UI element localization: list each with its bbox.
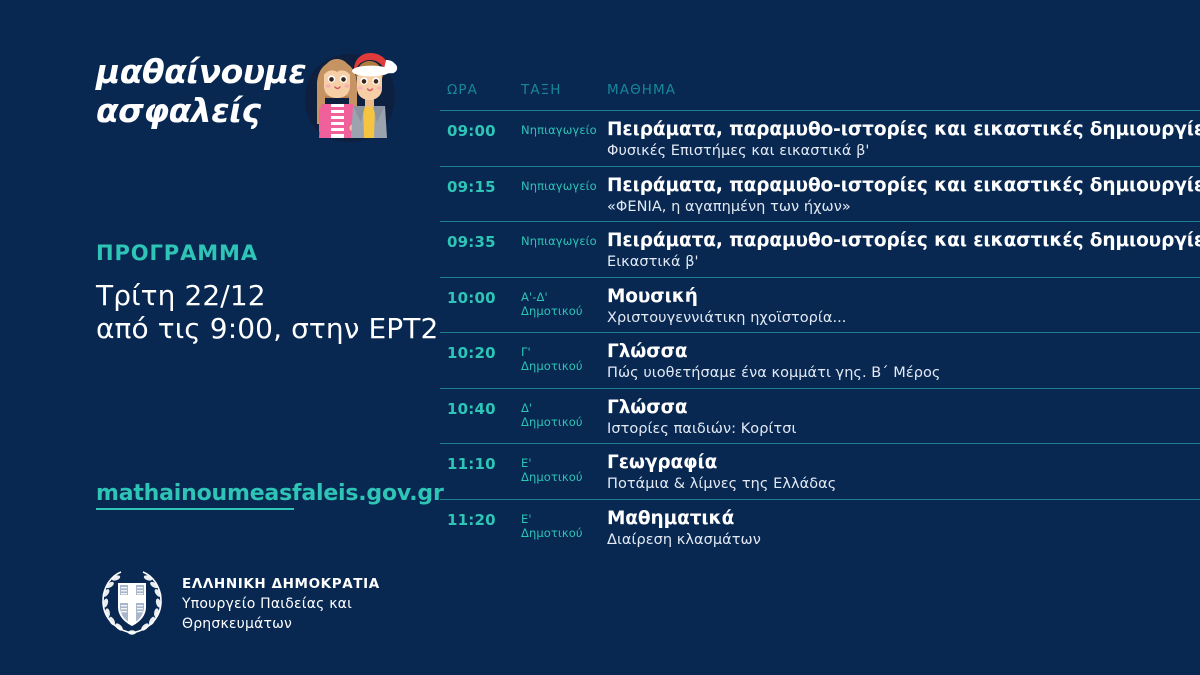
programme-date-line-2: από τις 9:00, στην ΕΡΤ2	[96, 312, 426, 345]
site-url-wrapper: mathainoumeasfaleis.gov.gr	[96, 481, 444, 506]
row-class: Νηπιαγωγείο	[521, 123, 597, 137]
row-class-line-1: Δ'	[521, 401, 583, 415]
table-row[interactable]: 11:20 Ε' Δημοτικού Μαθηματικά Διαίρεση κ…	[440, 499, 1200, 555]
row-class-line-1: Γ'	[521, 345, 583, 359]
row-subject-title: Πειράματα, παραμυθο-ιστορίες και εικαστι…	[607, 230, 1200, 252]
row-class-line-1: Νηπιαγωγείο	[521, 179, 597, 193]
table-row[interactable]: 10:40 Δ' Δημοτικού Γλώσσα Ιστορίες παιδι…	[440, 388, 1200, 444]
row-class-line-1: Α'-Δ'	[521, 290, 583, 304]
row-subject-title: Μαθηματικά	[607, 508, 1200, 530]
row-class: Νηπιαγωγείο	[521, 234, 597, 248]
column-header-time: ΩΡΑ	[447, 82, 478, 98]
two-children-illustration	[291, 46, 406, 154]
table-row[interactable]: 09:35 Νηπιαγωγείο Πειράματα, παραμυθο-ισ…	[440, 221, 1200, 277]
row-time: 10:40	[447, 400, 496, 418]
row-time: 09:00	[447, 122, 496, 140]
row-class: Ε' Δημοτικού	[521, 456, 583, 484]
table-row[interactable]: 09:15 Νηπιαγωγείο Πειράματα, παραμυθο-ισ…	[440, 166, 1200, 222]
row-class-line-2: Δημοτικού	[521, 304, 583, 318]
row-class: Δ' Δημοτικού	[521, 401, 583, 429]
row-subject: Πειράματα, παραμυθο-ιστορίες και εικαστι…	[607, 119, 1200, 161]
row-time: 10:20	[447, 344, 496, 362]
row-class-line-2: Δημοτικού	[521, 415, 583, 429]
table-row[interactable]: 10:20 Γ' Δημοτικού Γλώσσα Πώς υιοθετήσαμ…	[440, 332, 1200, 388]
programme-date-line-1: Τρίτη 22/12	[96, 279, 426, 312]
brand-line-2: ασφαλείς	[96, 91, 321, 130]
greek-coat-of-arms-icon	[96, 567, 168, 639]
row-class: Ε' Δημοτικού	[521, 512, 583, 540]
programme-date: Τρίτη 22/12 από τις 9:00, στην ΕΡΤ2	[96, 279, 426, 345]
row-class-line-2: Δημοτικού	[521, 359, 583, 373]
table-row[interactable]: 09:00 Νηπιαγωγείο Πειράματα, παραμυθο-ισ…	[440, 110, 1200, 166]
row-class-line-1: Νηπιαγωγείο	[521, 123, 597, 137]
table-row[interactable]: 11:10 Ε' Δημοτικού Γεωγραφία Ποτάμια & λ…	[440, 443, 1200, 499]
row-subject-desc: Ποτάμια & λίμνες της Ελλάδας	[607, 475, 1200, 494]
row-class: Γ' Δημοτικού	[521, 345, 583, 373]
row-subject: Γλώσσα Πώς υιοθετήσαμε ένα κομμάτι γης. …	[607, 341, 1200, 383]
brand-line-1: μαθαίνουμε	[96, 52, 321, 91]
row-class-line-1: Ε'	[521, 456, 583, 470]
row-time: 11:20	[447, 511, 496, 529]
government-logo-text: ΕΛΛΗΝΙΚΗ ΔΗΜΟΚΡΑΤΙΑ Υπουργείο Παιδείας κ…	[182, 573, 430, 634]
row-class-line-1: Νηπιαγωγείο	[521, 234, 597, 248]
column-header-class: ΤΑΞΗ	[521, 82, 562, 98]
row-subject-title: Μουσική	[607, 286, 1200, 308]
row-class-line-2: Δημοτικού	[521, 470, 583, 484]
row-subject: Μαθηματικά Διαίρεση κλασμάτων	[607, 508, 1200, 550]
programme-block: ΠΡΟΓΡΑΜΜΑ Τρίτη 22/12 από τις 9:00, στην…	[96, 240, 426, 345]
row-subject-desc: Πώς υιοθετήσαμε ένα κομμάτι γης. Β΄ Μέρο…	[607, 364, 1200, 383]
row-time: 11:10	[447, 455, 496, 473]
government-logo: ΕΛΛΗΝΙΚΗ ΔΗΜΟΚΡΑΤΙΑ Υπουργείο Παιδείας κ…	[96, 567, 430, 639]
government-title: ΕΛΛΗΝΙΚΗ ΔΗΜΟΚΡΑΤΙΑ	[182, 575, 430, 593]
government-subtitle: Υπουργείο Παιδείας και Θρησκευμάτων	[182, 594, 430, 634]
table-row[interactable]: 10:00 Α'-Δ' Δημοτικού Μουσική Χριστουγεν…	[440, 277, 1200, 333]
row-subject-title: Πειράματα, παραμυθο-ιστορίες και εικαστι…	[607, 175, 1200, 197]
row-subject: Πειράματα, παραμυθο-ιστορίες και εικαστι…	[607, 175, 1200, 217]
brand-wordmark: μαθαίνουμε ασφαλείς	[96, 52, 321, 130]
schedule-column-headers: ΩΡΑ ΤΑΞΗ ΜΑΘΗΜΑ	[440, 82, 1200, 110]
row-subject: Γλώσσα Ιστορίες παιδιών: Κορίτσι	[607, 397, 1200, 439]
brand-logo: μαθαίνουμε ασφαλείς	[96, 52, 406, 152]
row-subject-desc: Φυσικές Επιστήμες και εικαστικά β'	[607, 142, 1200, 161]
column-header-subject: ΜΑΘΗΜΑ	[607, 82, 676, 98]
programme-label: ΠΡΟΓΡΑΜΜΑ	[96, 240, 426, 266]
row-class-line-1: Ε'	[521, 512, 583, 526]
row-class: Νηπιαγωγείο	[521, 179, 597, 193]
left-panel: μαθαίνουμε ασφαλείς	[0, 0, 430, 675]
row-time: 09:35	[447, 233, 496, 251]
row-subject-desc: Εικαστικά β'	[607, 253, 1200, 272]
row-subject-desc: Χριστουγεννιάτικη ηχοϊστορία...	[607, 309, 1200, 328]
poster-root: μαθαίνουμε ασφαλείς	[0, 0, 1200, 675]
site-url-link[interactable]: mathainoumeasfaleis.gov.gr	[96, 481, 444, 506]
row-subject: Μουσική Χριστουγεννιάτικη ηχοϊστορία...	[607, 286, 1200, 328]
row-class: Α'-Δ' Δημοτικού	[521, 290, 583, 318]
row-subject-title: Γλώσσα	[607, 341, 1200, 363]
row-subject-title: Γλώσσα	[607, 397, 1200, 419]
row-time: 09:15	[447, 178, 496, 196]
row-class-line-2: Δημοτικού	[521, 526, 583, 540]
row-subject-desc: Διαίρεση κλασμάτων	[607, 531, 1200, 550]
row-subject: Πειράματα, παραμυθο-ιστορίες και εικαστι…	[607, 230, 1200, 272]
row-subject-title: Πειράματα, παραμυθο-ιστορίες και εικαστι…	[607, 119, 1200, 141]
row-subject-desc: Ιστορίες παιδιών: Κορίτσι	[607, 420, 1200, 439]
row-subject-title: Γεωγραφία	[607, 452, 1200, 474]
row-time: 10:00	[447, 289, 496, 307]
schedule-rows: 09:00 Νηπιαγωγείο Πειράματα, παραμυθο-ισ…	[440, 110, 1200, 554]
row-subject-desc: «ΦΕΝΙΑ, η αγαπημένη των ήχων»	[607, 198, 1200, 217]
schedule-table: ΩΡΑ ΤΑΞΗ ΜΑΘΗΜΑ 09:00 Νηπιαγωγείο Πειράμ…	[440, 0, 1200, 675]
row-subject: Γεωγραφία Ποτάμια & λίμνες της Ελλάδας	[607, 452, 1200, 494]
